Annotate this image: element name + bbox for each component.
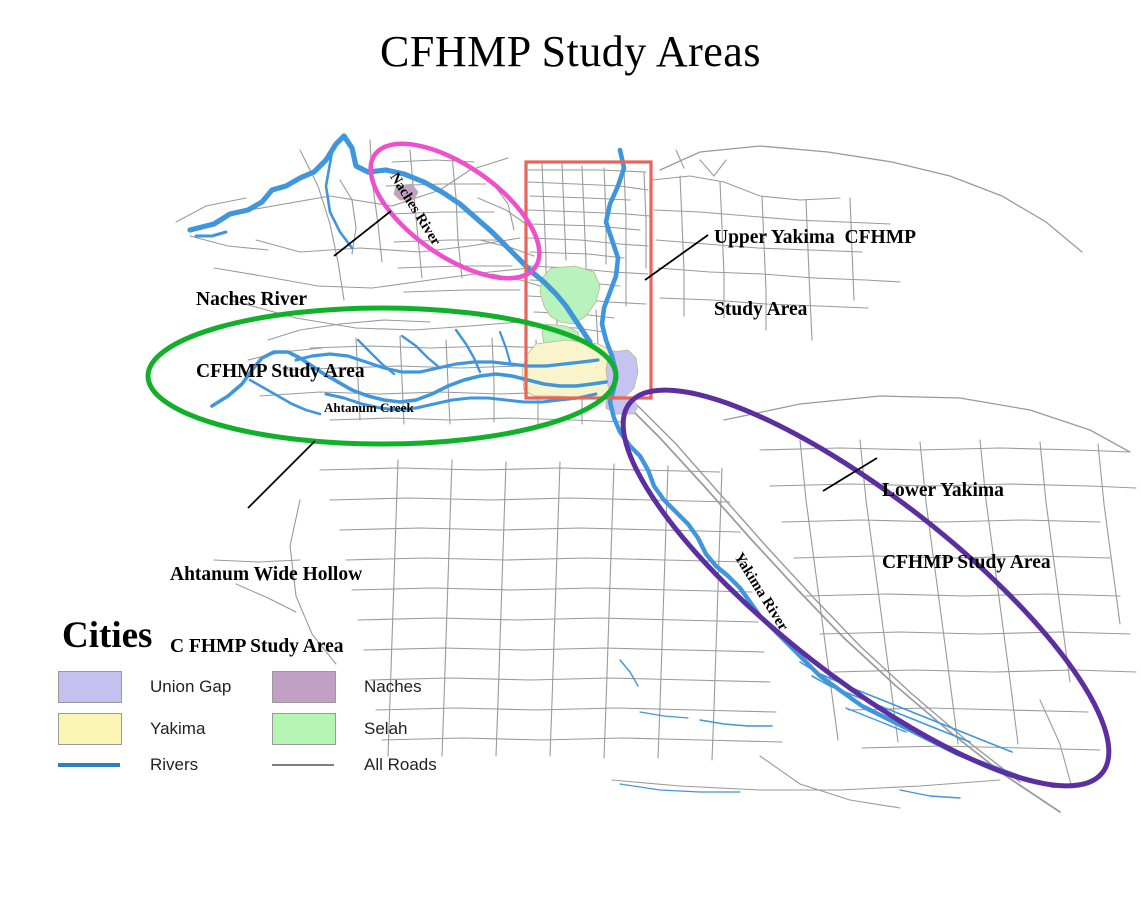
legend-label-yakima: Yakima xyxy=(150,719,272,739)
annotation-lower-yakima-line1: Lower Yakima xyxy=(882,479,1051,503)
legend-swatch-rivers xyxy=(58,763,150,767)
legend-swatch-yakima xyxy=(58,713,150,745)
annotation-naches-river-line1: Naches River xyxy=(196,288,365,312)
legend-swatch-selah xyxy=(272,713,364,745)
annotation-upper-yakima-line2: Study Area xyxy=(714,298,916,322)
leader-line-lower xyxy=(823,458,877,491)
study-area-lower-yakima[interactable] xyxy=(574,332,1141,843)
legend-title: Cities xyxy=(62,614,484,657)
annotation-ahtanum-line1: Ahtanum Wide Hollow xyxy=(170,563,362,587)
annotation-lower-yakima-line2: CFHMP Study Area xyxy=(882,551,1051,575)
annotation-upper-yakima-line1: Upper Yakima CFHMP xyxy=(714,226,916,250)
annotation-naches-river: Naches River CFHMP Study Area xyxy=(196,240,365,408)
legend-swatch-naches xyxy=(272,671,364,703)
leader-line-ahtanum xyxy=(248,441,315,508)
legend-label-all-roads: All Roads xyxy=(364,755,484,775)
annotation-lower-yakima: Lower Yakima CFHMP Study Area xyxy=(882,431,1051,599)
legend-swatch-all-roads xyxy=(272,764,364,766)
legend-label-rivers: Rivers xyxy=(150,755,272,775)
legend-label-naches: Naches xyxy=(364,677,484,697)
legend-items: Union Gap Naches Yakima Selah Rivers All… xyxy=(58,671,484,775)
legend-label-union-gap: Union Gap xyxy=(150,677,272,697)
legend-swatch-union-gap xyxy=(58,671,150,703)
legend-label-selah: Selah xyxy=(364,719,484,739)
annotation-upper-yakima: Upper Yakima CFHMP Study Area xyxy=(714,178,916,346)
map-label-ahtanum-creek: Ahtanum Creek xyxy=(324,400,414,416)
map-legend: Cities Union Gap Naches Yakima Selah Riv… xyxy=(58,614,484,775)
annotation-naches-river-line2: CFHMP Study Area xyxy=(196,360,365,384)
